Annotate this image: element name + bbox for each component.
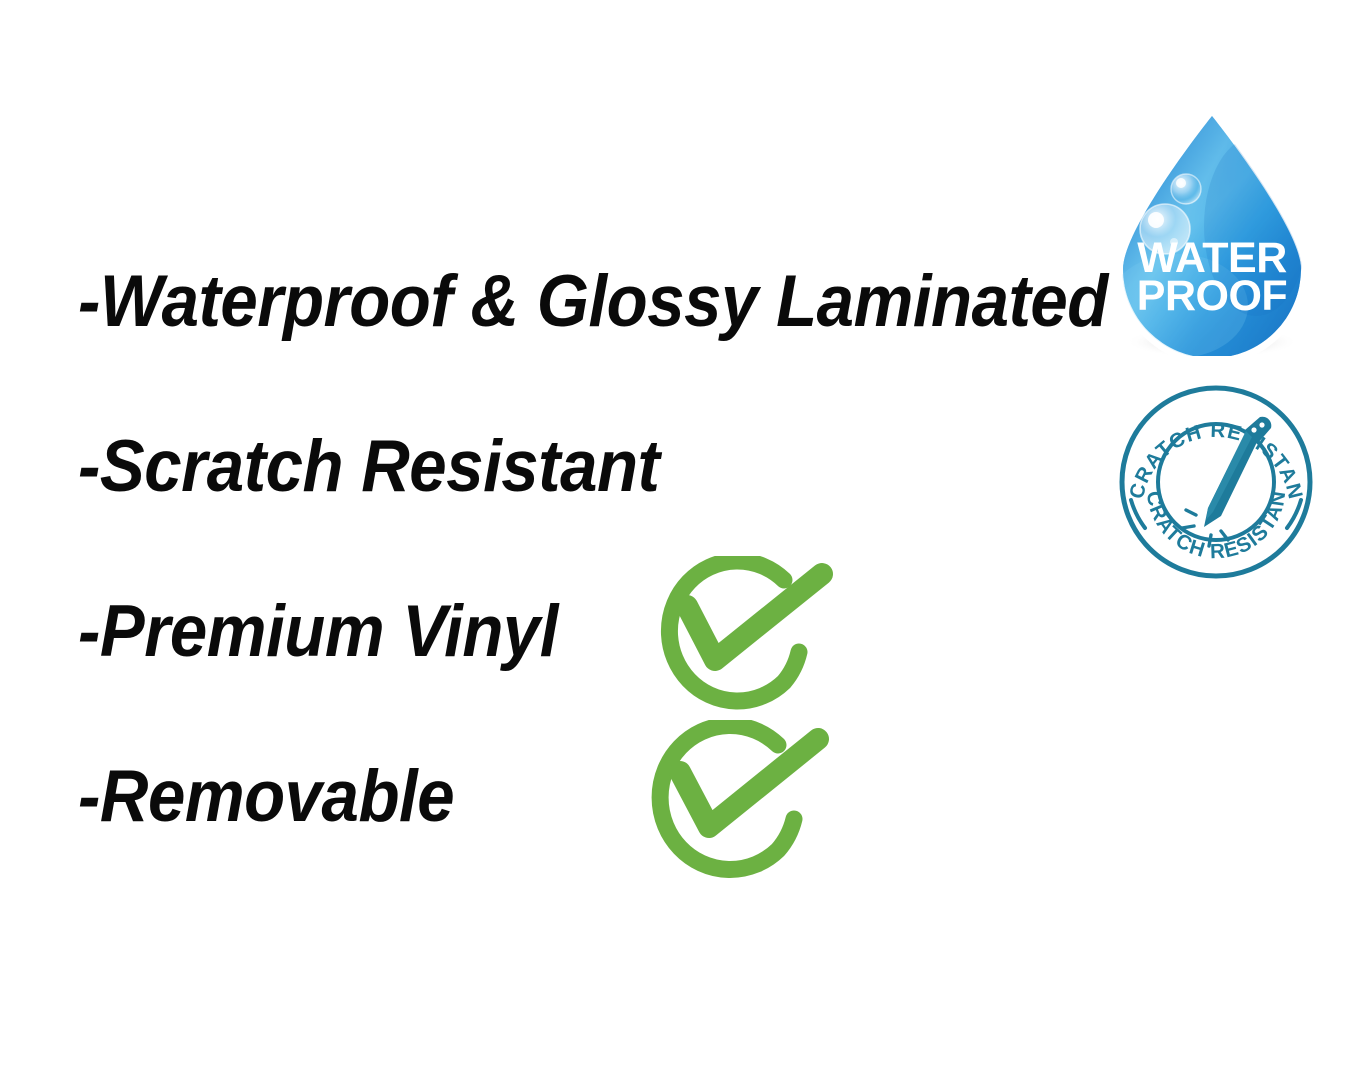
feature-text-scratch-resistant: -Scratch Resistant	[78, 430, 659, 503]
feature-text-removable: -Removable	[78, 760, 454, 833]
check-circle-icon	[636, 556, 846, 716]
waterproof-badge: WATER PROOF	[1106, 106, 1318, 356]
scratch-resistant-text-top: SCRATCH RESISTANT	[1118, 384, 1307, 502]
waterproof-label-line2: PROOF	[1137, 272, 1287, 320]
feature-text-premium-vinyl: -Premium Vinyl	[78, 595, 558, 668]
check-circle-icon	[628, 720, 843, 885]
feature-text-waterproof-glossy-laminated: -Waterproof & Glossy Laminated	[78, 265, 1108, 338]
feature-list-graphic: -Waterproof & Glossy Laminated -Scratch …	[0, 0, 1359, 1080]
scratch-resistant-badge: SCRATCH RESISTANT SCRATCH RESISTANT	[1118, 384, 1314, 580]
